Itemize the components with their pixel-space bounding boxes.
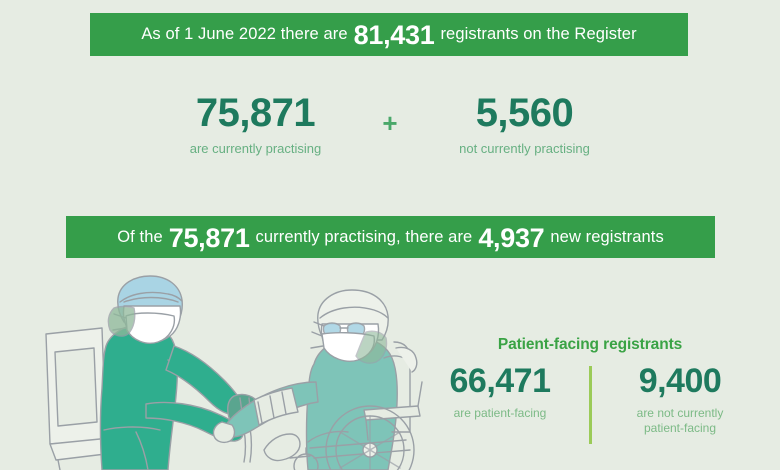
new-registrants-text-before: Of the bbox=[117, 229, 169, 246]
stat-not-patient-facing-caption: are not currently patient-facing bbox=[598, 406, 763, 437]
patient-facing-title: Patient-facing registrants bbox=[410, 336, 770, 354]
headline-text-before: As of 1 June 2022 there are bbox=[141, 26, 353, 43]
headline-banner-total-registrants: As of 1 June 2022 there are81,431registr… bbox=[90, 13, 688, 56]
stat-patient-facing-number: 66,471 bbox=[418, 364, 583, 400]
new-registrants-practising-number: 75,871 bbox=[169, 225, 250, 252]
stat-currently-practising-caption: are currently practising bbox=[148, 141, 363, 157]
clinician-patient-illustration bbox=[18, 272, 438, 470]
patient-facing-panel: Patient-facing registrants 66,471 are pa… bbox=[410, 336, 770, 466]
plus-icon: + bbox=[363, 92, 417, 136]
new-registrants-text-after: new registrants bbox=[544, 229, 663, 246]
stat-not-patient-facing-caption-line2: patient-facing bbox=[644, 421, 716, 435]
vertical-divider bbox=[589, 366, 592, 444]
headline-total-number: 81,431 bbox=[354, 22, 435, 49]
infographic-canvas: As of 1 June 2022 there are81,431registr… bbox=[0, 0, 780, 470]
stat-not-patient-facing: 9,400 are not currently patient-facing bbox=[598, 364, 763, 437]
new-registrants-text-middle: currently practising, there are bbox=[250, 229, 479, 246]
stat-currently-practising-number: 75,871 bbox=[148, 92, 363, 134]
stat-not-currently-practising: 5,560 not currently practising bbox=[417, 92, 632, 157]
stat-not-patient-facing-number: 9,400 bbox=[598, 364, 763, 400]
stat-not-currently-practising-caption: not currently practising bbox=[417, 141, 632, 157]
stat-patient-facing: 66,471 are patient-facing bbox=[418, 364, 583, 421]
stat-not-currently-practising-number: 5,560 bbox=[417, 92, 632, 134]
headline-text-after: registrants on the Register bbox=[434, 26, 636, 43]
new-registrants-number: 4,937 bbox=[478, 225, 544, 252]
headline-banner-new-registrants: Of the75,871currently practising, there … bbox=[66, 216, 715, 258]
clinician-patient-illustration-svg bbox=[18, 272, 438, 470]
practising-split-row: 75,871 are currently practising + 5,560 … bbox=[0, 92, 780, 172]
stat-currently-practising: 75,871 are currently practising bbox=[148, 92, 363, 157]
stat-patient-facing-caption: are patient-facing bbox=[418, 406, 583, 422]
patient-facing-columns: 66,471 are patient-facing 9,400 are not … bbox=[410, 364, 770, 444]
stat-not-patient-facing-caption-line1: are not currently bbox=[637, 406, 724, 420]
